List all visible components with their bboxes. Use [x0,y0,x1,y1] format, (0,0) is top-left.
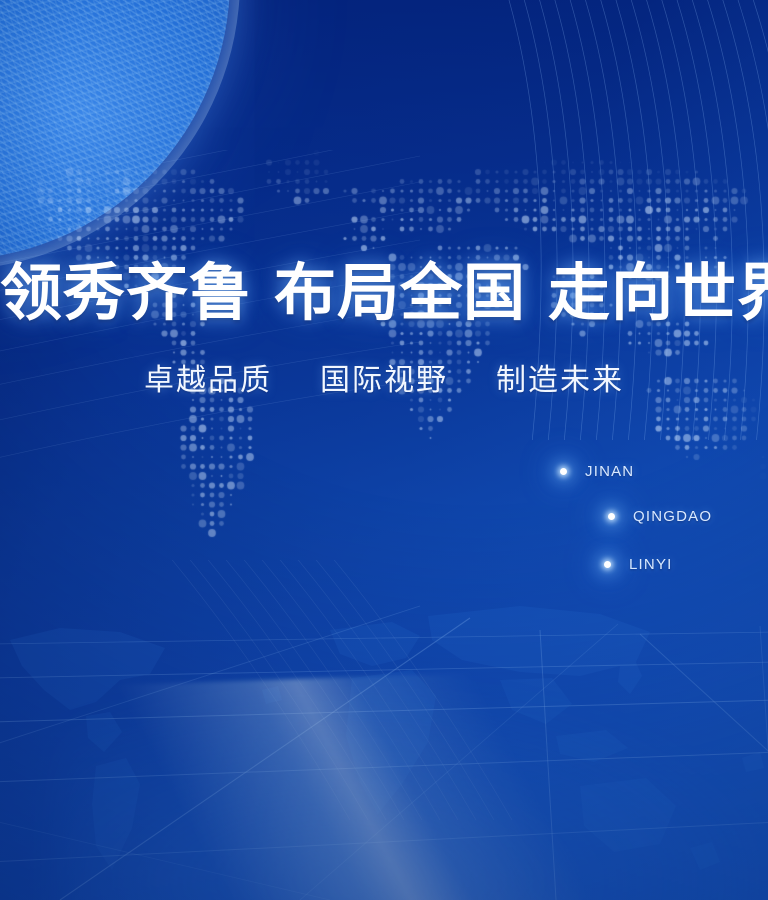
subheadline-part-3: 制造未来 [496,363,624,398]
hero-banner: 领秀齐鲁布局全国走向世界 卓越品质国际视野制造未来 JINAN QINGDAO … [0,0,768,900]
banner-headline: 领秀齐鲁布局全国走向世界 [0,262,768,324]
city-marker-jinan: JINAN [560,463,634,480]
headline-part-3: 走向世界 [548,256,768,329]
city-marker-qingdao: QINGDAO [608,508,712,525]
city-marker-dot-icon [608,513,615,520]
headline-part-2: 布局全国 [274,256,526,329]
city-marker-dot-icon [560,468,567,475]
light-streak [0,669,584,900]
city-label-linyi: LINYI [629,556,673,573]
subheadline-part-1: 卓越品质 [144,363,272,398]
headline-part-1: 领秀齐鲁 [0,256,252,329]
city-label-qingdao: QINGDAO [633,508,712,525]
city-label-jinan: JINAN [585,463,634,480]
city-marker-linyi: LINYI [604,556,673,573]
subheadline-part-2: 国际视野 [320,363,448,398]
city-marker-dot-icon [604,561,611,568]
banner-subheadline: 卓越品质国际视野制造未来 [0,366,768,396]
